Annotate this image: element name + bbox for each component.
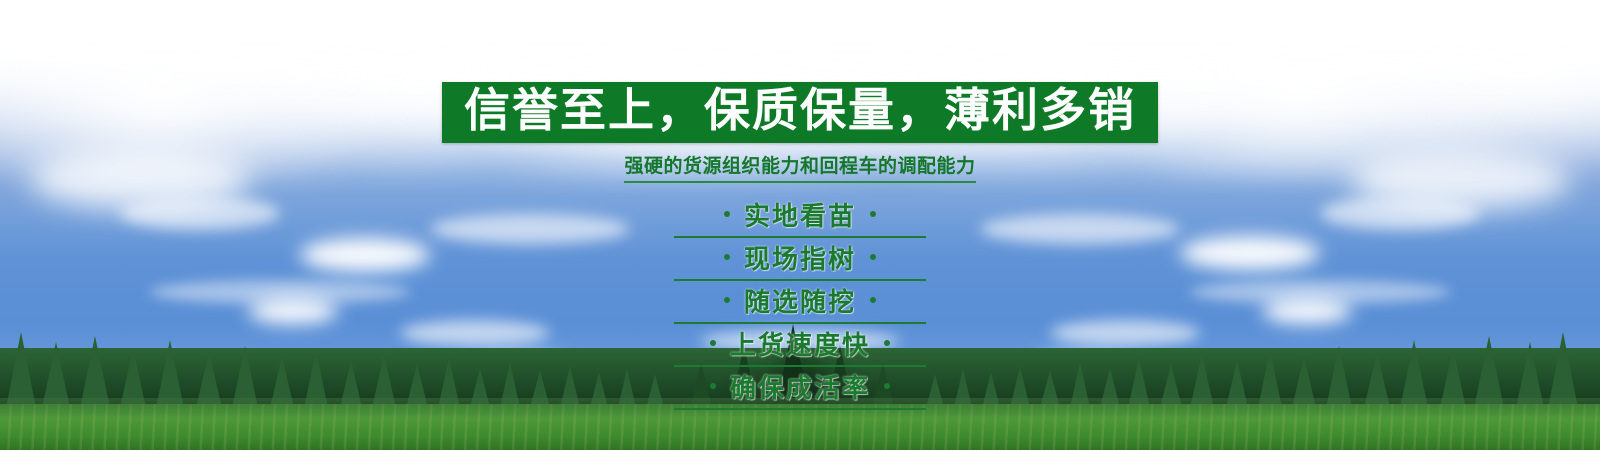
list-item: 随选随挖 (674, 281, 926, 324)
headline-bar: 信誉至上，保质保量，薄利多销 (442, 82, 1158, 143)
feature-label: 实地看苗 (744, 196, 856, 233)
bullet-dot-icon (870, 254, 876, 260)
bullet-dot-icon (710, 383, 716, 389)
bullet-dot-icon (724, 297, 730, 303)
feature-label: 确保成活率 (730, 368, 870, 405)
bullet-dot-icon (884, 383, 890, 389)
bullet-dot-icon (870, 211, 876, 217)
bullet-dot-icon (724, 211, 730, 217)
feature-label: 上货速度快 (730, 325, 870, 362)
feature-label: 现场指树 (744, 239, 856, 276)
bullet-dot-icon (884, 340, 890, 346)
banner-content: 信誉至上，保质保量，薄利多销 强硬的货源组织能力和回程车的调配能力 实地看苗 现… (0, 0, 1600, 410)
bullet-dot-icon (870, 297, 876, 303)
page-title: 信誉至上，保质保量，薄利多销 (464, 87, 1136, 134)
bullet-dot-icon (710, 340, 716, 346)
feature-label: 随选随挖 (744, 282, 856, 319)
feature-list: 实地看苗 现场指树 随选随挖 上货速度快 确保成活率 (674, 195, 926, 410)
banner-subtitle: 强硬的货源组织能力和回程车的调配能力 (624, 151, 975, 183)
list-item: 实地看苗 (674, 195, 926, 238)
promo-banner: 信誉至上，保质保量，薄利多销 强硬的货源组织能力和回程车的调配能力 实地看苗 现… (0, 0, 1600, 450)
bullet-dot-icon (724, 254, 730, 260)
list-item: 现场指树 (674, 238, 926, 281)
list-item: 确保成活率 (674, 367, 926, 410)
list-item: 上货速度快 (674, 324, 926, 367)
